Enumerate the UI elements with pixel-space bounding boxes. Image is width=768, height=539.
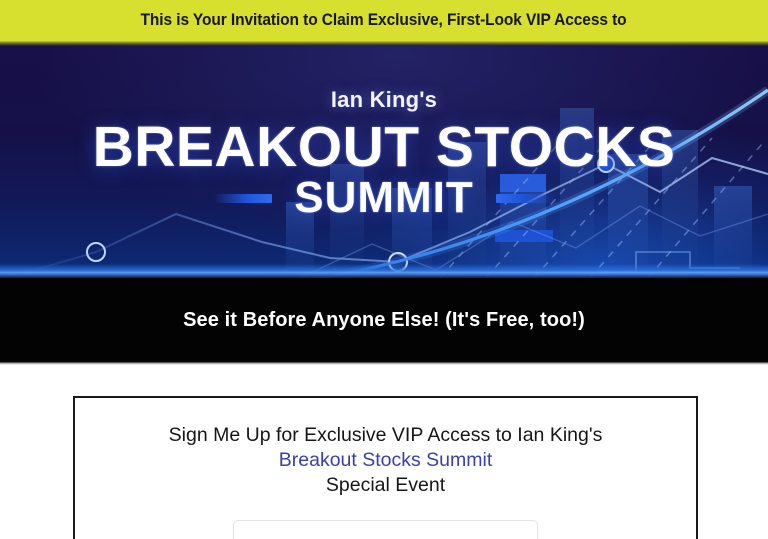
tagline-strip: See it Before Anyone Else! (It's Free, t… (0, 278, 768, 362)
form-heading-brand: Breakout Stocks Summit (279, 449, 493, 471)
hero-bottom-glow (0, 264, 768, 278)
landing-page: This is Your Invitation to Claim Exclusi… (0, 0, 768, 539)
hero-background-chart-graphic (0, 46, 768, 278)
strip-divider (0, 362, 768, 365)
top-banner-text: This is Your Invitation to Claim Exclusi… (141, 11, 627, 30)
tagline-text: See it Before Anyone Else! (It's Free, t… (183, 309, 585, 332)
email-input[interactable] (233, 520, 538, 539)
hero-section: Ian King's BREAKOUT STOCKS SUMMIT (0, 46, 768, 278)
form-heading-line1: Sign Me Up for Exclusive VIP Access to I… (169, 424, 603, 446)
top-invitation-banner: This is Your Invitation to Claim Exclusi… (0, 0, 768, 41)
signup-form-card: Sign Me Up for Exclusive VIP Access to I… (73, 396, 698, 539)
form-heading: Sign Me Up for Exclusive VIP Access to I… (169, 423, 603, 498)
form-heading-line3: Special Event (326, 474, 445, 496)
